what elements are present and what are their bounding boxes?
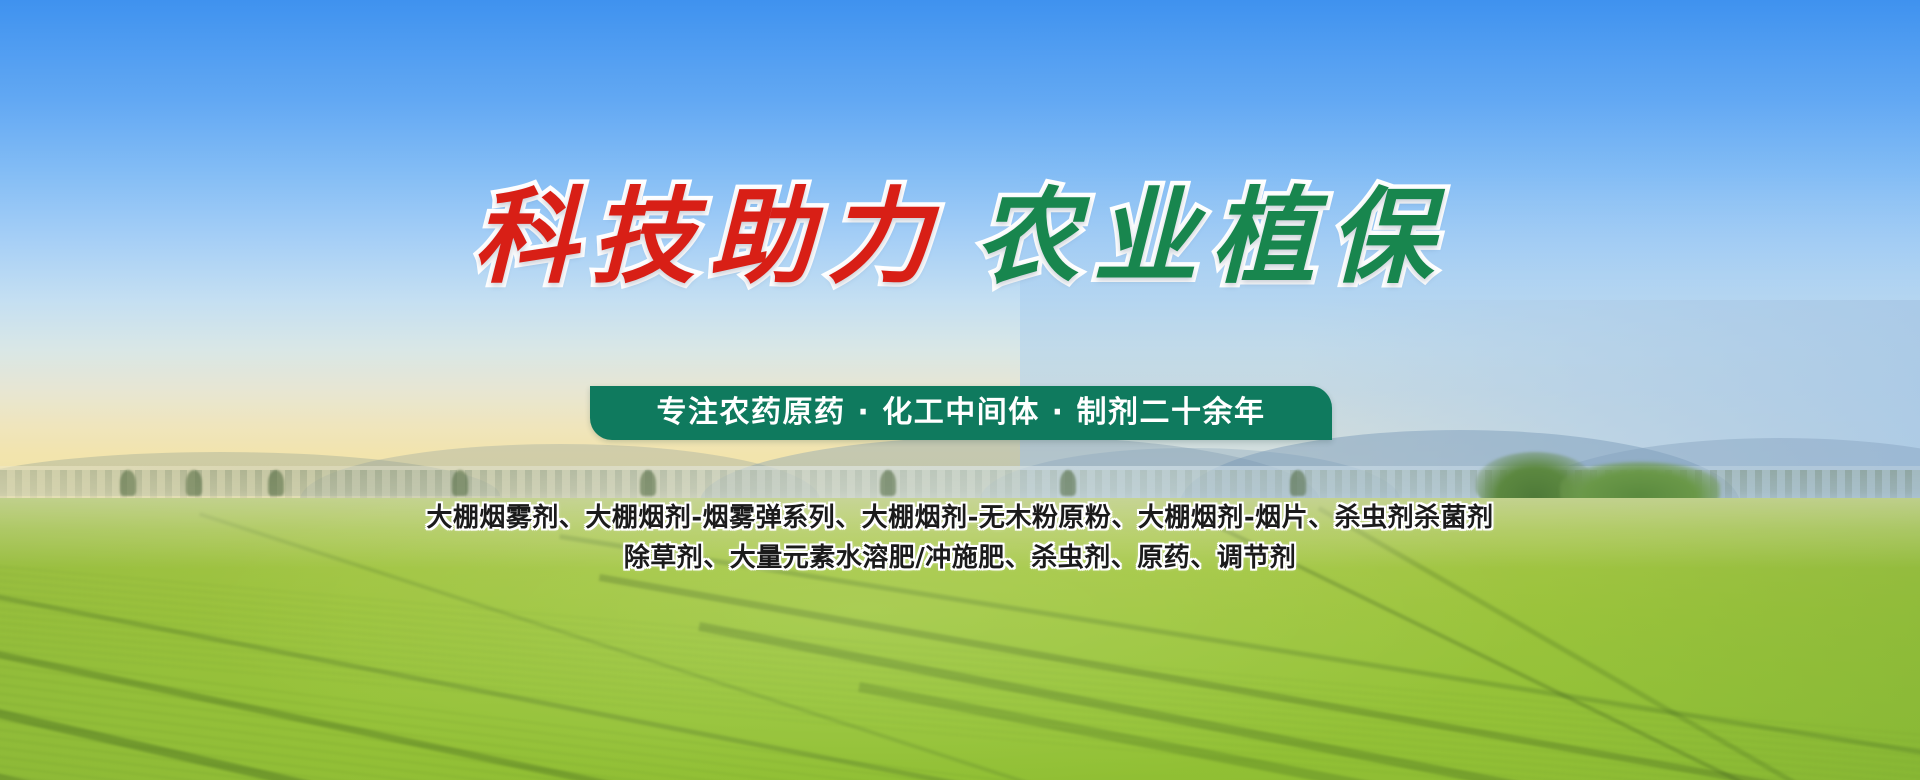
- tagline-badge: 专注农药原药 · 化工中间体 · 制剂二十余年: [590, 386, 1332, 440]
- tree-icon: [452, 470, 468, 496]
- headline: 科技助力农业植保: [0, 176, 1920, 299]
- tagline-text: 专注农药原药 · 化工中间体 · 制剂二十余年: [656, 398, 1265, 428]
- tree-icon: [120, 470, 136, 496]
- product-line: 大棚烟雾剂、大棚烟剂-烟雾弹系列、大棚烟剂-无木粉原粉、大棚烟剂-烟片、杀虫剂杀…: [0, 498, 1920, 538]
- product-line: 除草剂、大量元素水溶肥/冲施肥、杀虫剂、原药、调节剂: [0, 538, 1920, 578]
- promo-banner: 科技助力农业植保 专注农药原药 · 化工中间体 · 制剂二十余年 大棚烟雾剂、大…: [0, 0, 1920, 780]
- product-list: 大棚烟雾剂、大棚烟剂-烟雾弹系列、大棚烟剂-无木粉原粉、大棚烟剂-烟片、杀虫剂杀…: [0, 498, 1920, 578]
- headline-green-text: 农业植保: [975, 176, 1447, 299]
- tree-icon: [1290, 470, 1306, 496]
- headline-red-text: 科技助力: [473, 176, 945, 299]
- tree-icon: [880, 470, 896, 496]
- tree-icon: [186, 470, 202, 496]
- tree-icon: [640, 470, 656, 496]
- tree-icon: [268, 470, 284, 496]
- tree-icon: [1060, 470, 1076, 496]
